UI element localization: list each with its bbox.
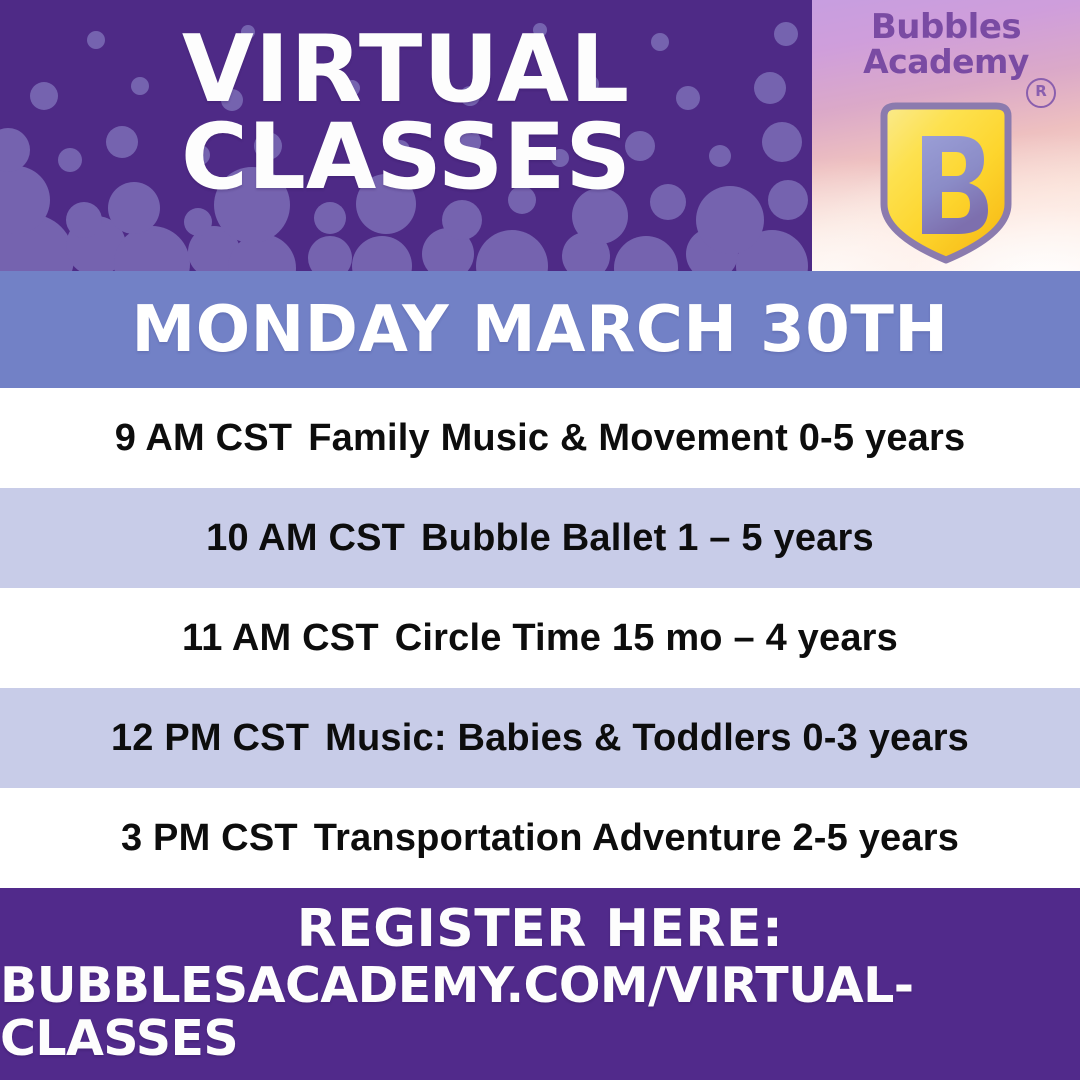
register-url-link[interactable]: BUBBLESACADEMY.COM/VIRTUAL-CLASSES	[0, 960, 1080, 1066]
schedule-row-title: Transportation Adventure 2-5 years	[314, 817, 959, 859]
schedule-row: 10 AM CSTBubble Ballet 1 – 5 years	[0, 488, 1080, 588]
schedule-row-text: 9 AM CSTFamily Music & Movement 0-5 year…	[115, 417, 966, 460]
date-banner: MONDAY MARCH 30TH	[0, 271, 1080, 388]
virtual-classes-poster: VIRTUAL CLASSES Bubbles Academy R	[0, 0, 1080, 1080]
brand-logo-panel: Bubbles Academy R	[812, 0, 1080, 271]
schedule-row-time: 12 PM CST	[111, 717, 309, 759]
schedule-row: 3 PM CSTTransportation Adventure 2-5 yea…	[0, 788, 1080, 888]
schedule-row-title: Circle Time 15 mo – 4 years	[395, 617, 898, 659]
schedule-row-title: Music: Babies & Toddlers 0-3 years	[325, 717, 969, 759]
schedule-row: 11 AM CSTCircle Time 15 mo – 4 years	[0, 588, 1080, 688]
footer-register-banner: REGISTER HERE: BUBBLESACADEMY.COM/VIRTUA…	[0, 888, 1080, 1080]
schedule-row: 12 PM CSTMusic: Babies & Toddlers 0-3 ye…	[0, 688, 1080, 788]
logo-wordmark-line-bubbles: Bubbles	[812, 10, 1080, 45]
logo-wordmark-line-academy: Academy	[812, 45, 1080, 79]
schedule-row-time: 10 AM CST	[206, 517, 405, 559]
schedule-row-title: Bubble Ballet 1 – 5 years	[421, 517, 874, 559]
bubble-pattern-decoration	[0, 0, 812, 271]
schedule-row-title: Family Music & Movement 0-5 years	[308, 417, 965, 459]
date-banner-text: MONDAY MARCH 30TH	[132, 298, 949, 362]
schedule-row-text: 12 PM CSTMusic: Babies & Toddlers 0-3 ye…	[111, 717, 969, 760]
schedule-row-text: 3 PM CSTTransportation Adventure 2-5 yea…	[121, 817, 959, 860]
schedule-row-text: 10 AM CSTBubble Ballet 1 – 5 years	[206, 517, 874, 560]
schedule-row-time: 3 PM CST	[121, 817, 298, 859]
registered-trademark-icon: R	[1026, 78, 1056, 108]
class-schedule-list: 9 AM CSTFamily Music & Movement 0-5 year…	[0, 388, 1080, 888]
shield-logo-icon	[870, 100, 1022, 266]
register-cta-text: REGISTER HERE:	[297, 902, 784, 957]
schedule-row-time: 9 AM CST	[115, 417, 293, 459]
schedule-row: 9 AM CSTFamily Music & Movement 0-5 year…	[0, 388, 1080, 488]
schedule-row-text: 11 AM CSTCircle Time 15 mo – 4 years	[182, 617, 898, 660]
schedule-row-time: 11 AM CST	[182, 617, 379, 659]
logo-wordmark: Bubbles Academy	[812, 10, 1080, 78]
